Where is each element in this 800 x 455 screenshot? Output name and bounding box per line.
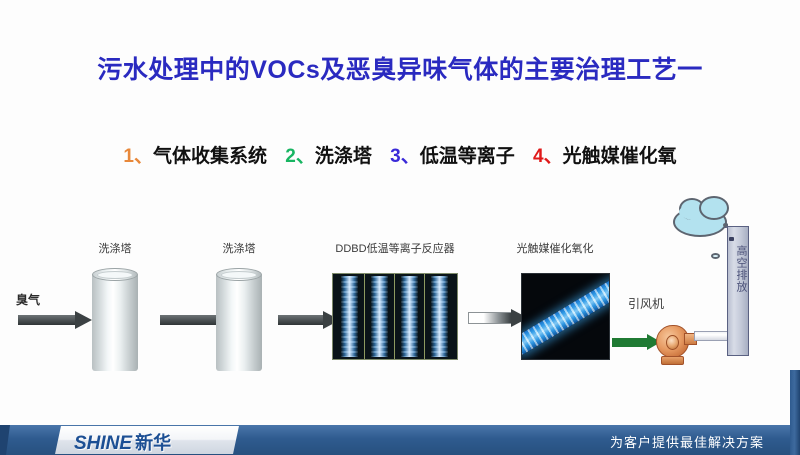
flow-arrow-inlet [18, 311, 92, 329]
scrubber-tower-2 [216, 268, 262, 371]
process-step-4-label: 光触媒催化氧 [563, 146, 677, 167]
emission-bubble-small-icon [723, 223, 728, 227]
process-step-1: 1、气体收集系统 [123, 141, 267, 168]
banner-notch-decoration [0, 425, 10, 455]
emission-bubble-icon [711, 253, 720, 259]
footer-tagline: 为客户提供最佳解决方案 [610, 432, 764, 451]
scrubber-2-label: 洗涤塔 [194, 240, 284, 256]
flow-arrow-scrubber2-to-ddbd [278, 311, 340, 329]
fan-label: 引风机 [616, 295, 676, 312]
process-step-2-number: 2、 [285, 146, 315, 167]
slide-canvas: 污水处理中的VOCs及恶臭异味气体的主要治理工艺一 1、气体收集系统 2、洗涤塔… [0, 0, 800, 455]
process-step-4: 4、光触媒催化氧 [533, 141, 677, 168]
footer-banner: SHINE新华 为客户提供最佳解决方案 [0, 425, 800, 455]
process-step-3-number: 3、 [390, 146, 420, 167]
process-step-1-label: 气体收集系统 [153, 146, 267, 167]
process-step-2: 2、洗涤塔 [285, 141, 372, 168]
ddbd-reactor-photo [332, 273, 458, 360]
fan-to-stack-duct [694, 331, 730, 341]
photocatalysis-photo [521, 273, 610, 360]
stack-label: 高空排放 [733, 245, 749, 293]
scrubber-tower-1 [92, 268, 138, 371]
process-flow-diagram: 臭气 洗涤塔 洗涤塔 DDBD低温等 [0, 185, 800, 410]
brand-logo-en: SHINE [74, 433, 132, 454]
brand-logo: SHINE新华 [74, 429, 171, 455]
inlet-odor-label: 臭气 [16, 291, 40, 308]
process-step-1-number: 1、 [123, 146, 153, 167]
process-step-3-label: 低温等离子 [420, 146, 515, 167]
banner-right-edge-decoration [790, 370, 800, 455]
photocatalysis-label: 光触媒催化氧化 [490, 240, 620, 256]
process-step-4-number: 4、 [533, 146, 563, 167]
process-step-2-label: 洗涤塔 [315, 146, 372, 167]
induced-draft-fan-icon [652, 325, 700, 367]
brand-logo-cn: 新华 [135, 433, 171, 453]
scrubber-1-label: 洗涤塔 [70, 240, 160, 256]
process-step-3: 3、低温等离子 [390, 141, 515, 168]
stack-port-icon [729, 237, 734, 241]
emission-cloud-icon [673, 207, 727, 237]
ddbd-reactor-label: DDBD低温等离子反应器 [320, 240, 470, 256]
process-step-list: 1、气体收集系统 2、洗涤塔 3、低温等离子 4、光触媒催化氧 [0, 141, 800, 168]
page-title: 污水处理中的VOCs及恶臭异味气体的主要治理工艺一 [0, 50, 800, 86]
